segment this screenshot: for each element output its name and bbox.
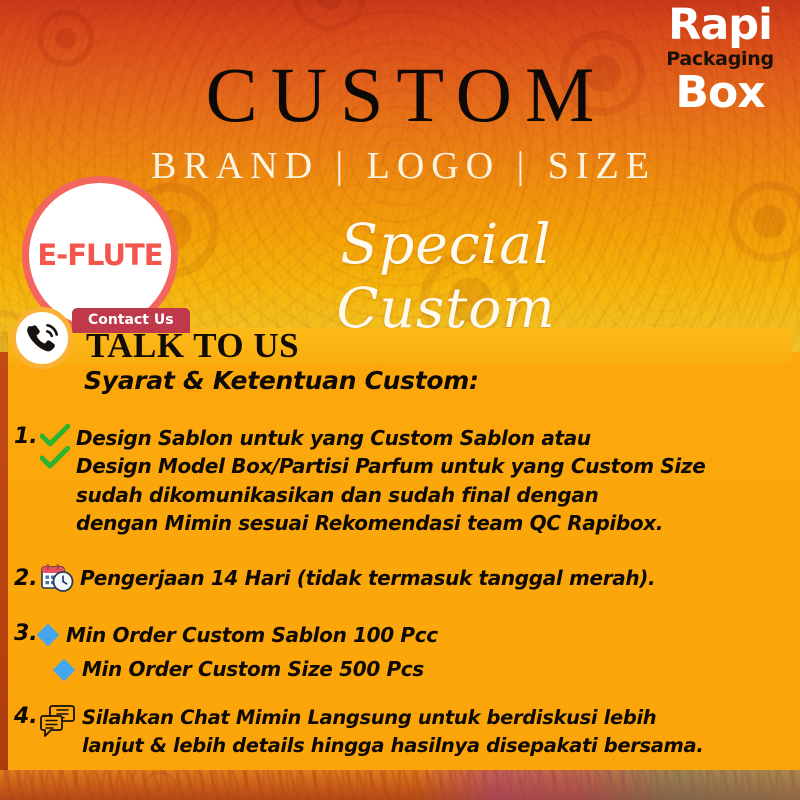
green-check-icon xyxy=(40,424,70,480)
chat-bubbles-icon xyxy=(40,704,76,740)
terms-item-3-line-2: Min Order Custom Size 500 Pcs xyxy=(82,655,424,683)
terms-item-1-line-2: Design Model Box/Partisi Parfum untuk ya… xyxy=(76,454,705,478)
terms-item-4-line-1: Silahkan Chat Mimin Langsung untuk berdi… xyxy=(82,706,656,729)
terms-title: Syarat & Ketentuan Custom: xyxy=(84,366,479,395)
calendar-clock-icon xyxy=(40,563,74,593)
terms-item-4-number: 4. xyxy=(14,704,40,729)
terms-item-1-text: Design Sablon untuk yang Custom Sablon a… xyxy=(76,424,705,538)
eflute-badge-label: E-FLUTE xyxy=(37,238,162,272)
terms-item-3: 3. Min Order Custom Sablon 100 Pcc Min O… xyxy=(14,621,438,684)
terms-item-2: 2. Pengerjaan 14 Hari (tidak termasuk ta… xyxy=(14,563,655,593)
promo-poster: Rapi Packaging Box CUSTOM BRAND | LOGO |… xyxy=(0,0,800,800)
terms-item-1-line-1: Design Sablon untuk yang Custom Sablon a… xyxy=(76,426,591,450)
talk-to-us-bar[interactable]: TALK TO US xyxy=(8,328,792,364)
contact-us-tag[interactable]: Contact Us xyxy=(72,308,190,333)
phone-call-icon xyxy=(23,319,61,357)
terms-item-3-row-2: Min Order Custom Size 500 Pcs xyxy=(56,655,438,683)
terms-item-1-line-3: sudah dikomunikasikan dan sudah final de… xyxy=(76,483,598,507)
blue-diamond-icon xyxy=(53,658,76,681)
brand-logo: Rapi Packaging Box xyxy=(654,4,786,115)
terms-item-4-text: Silahkan Chat Mimin Langsung untuk berdi… xyxy=(82,704,703,759)
terms-item-3-number: 3. xyxy=(14,621,40,646)
brand-logo-line1: Rapi xyxy=(654,4,786,47)
brand-logo-line3: Box xyxy=(654,71,786,115)
terms-item-2-number: 2. xyxy=(14,566,40,591)
terms-item-4-line-2: lanjut & lebih details hingga hasilnya d… xyxy=(82,734,703,757)
script-tagline: Special Custom xyxy=(236,212,656,340)
terms-item-1: 1. Design Sablon untuk yang Custom Sablo… xyxy=(14,424,705,538)
terms-item-2-line-1: Pengerjaan 14 Hari (tidak termasuk tangg… xyxy=(80,564,655,592)
terms-item-4: 4. Silahkan Chat Mimin Langsung untuk be… xyxy=(14,704,703,759)
phone-icon-badge[interactable] xyxy=(11,307,73,369)
bottom-texture-strip xyxy=(0,770,800,800)
panel-left-edge xyxy=(0,352,8,770)
script-tagline-text: Special Custom xyxy=(336,212,555,340)
terms-item-1-line-4: dengan Mimin sesuai Rekomendasi team QC … xyxy=(76,511,663,535)
terms-item-3-row-1: Min Order Custom Sablon 100 Pcc xyxy=(40,621,438,649)
blue-diamond-icon xyxy=(37,624,60,647)
terms-item-1-number: 1. xyxy=(14,424,40,449)
terms-item-3-line-1: Min Order Custom Sablon 100 Pcc xyxy=(66,621,438,649)
